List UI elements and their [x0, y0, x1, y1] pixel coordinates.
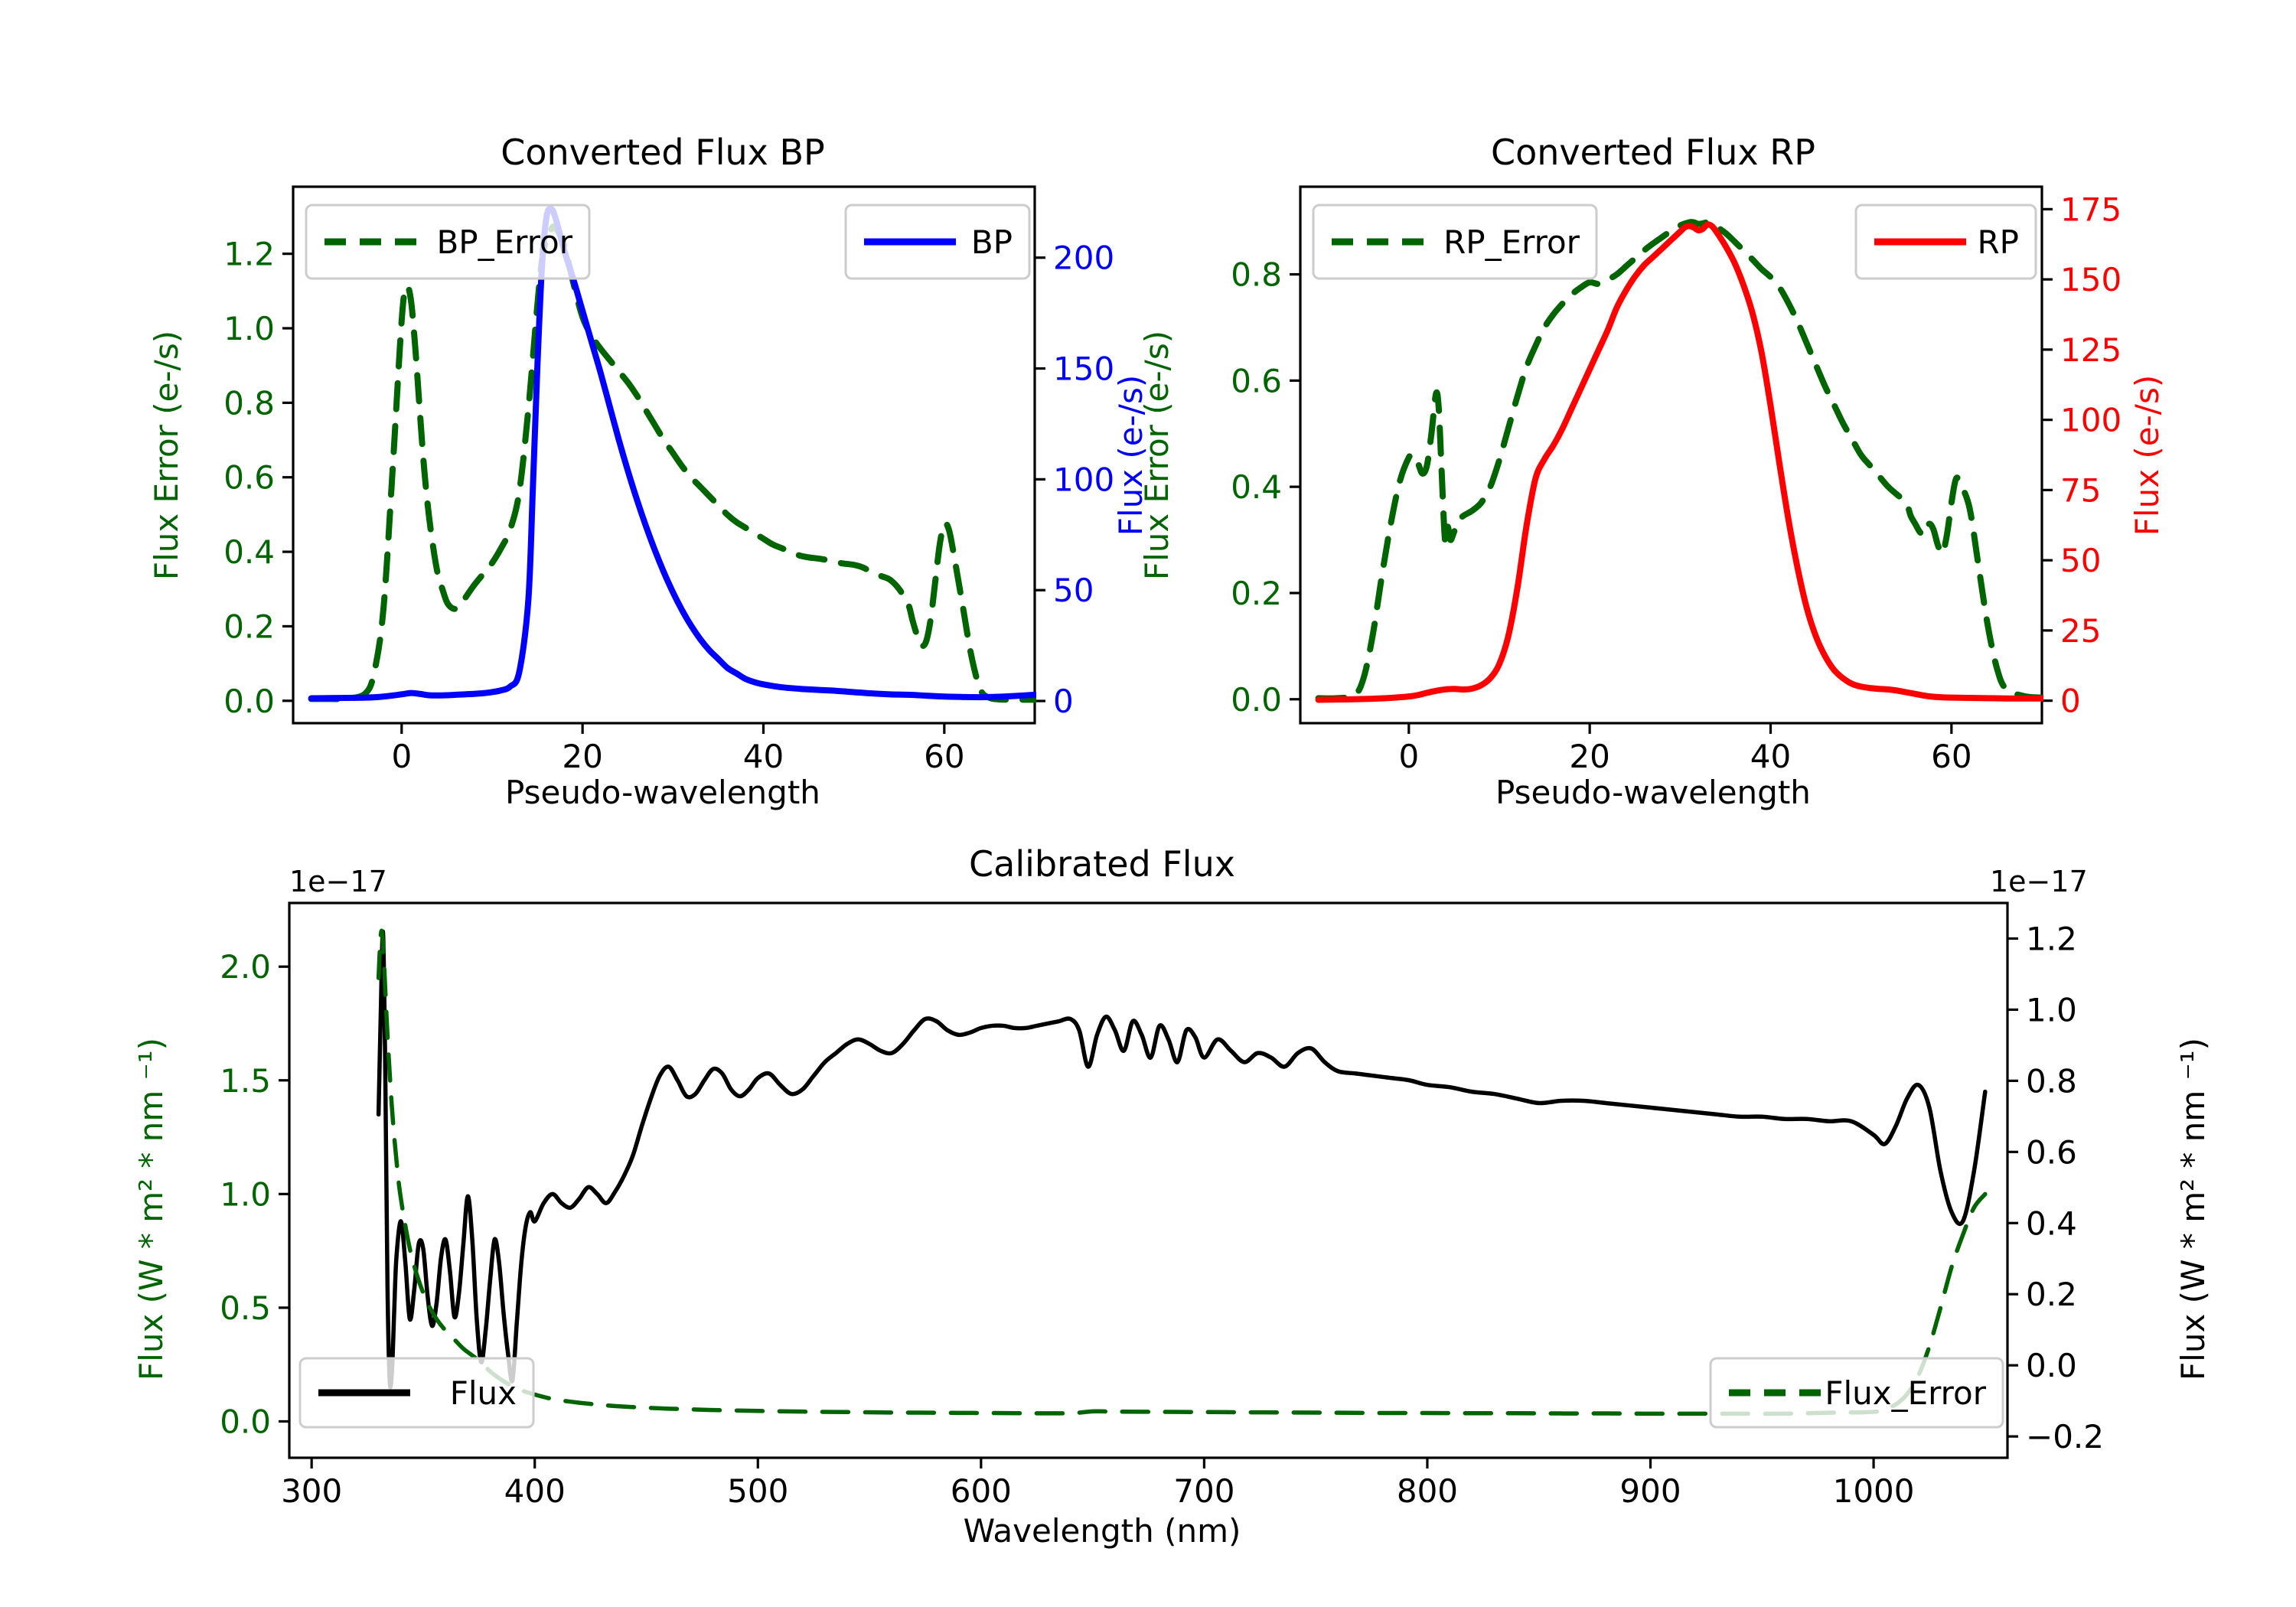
rp-y-axis-label-right: Flux (e-/s) — [2128, 375, 2166, 536]
bp-panel-title: Converted Flux BP — [501, 132, 825, 173]
calibrated-panel-y-tick-label-right: 0.4 — [2026, 1204, 2077, 1242]
panel-converted-flux-rp: Converted Flux RP 02040600.00.20.40.60.8… — [1148, 0, 2296, 819]
rp-x-axis-label: Pseudo-wavelength — [1495, 774, 1811, 811]
rp-panel-y-tick-label-left: 0.8 — [1231, 256, 1282, 294]
rp-y-axis-label-left: Flux Error (e-/s) — [1138, 331, 1176, 580]
rp-panel-x-tick-label: 40 — [1750, 738, 1791, 775]
calibrated-panel-y-tick-label-left: 0.0 — [220, 1403, 271, 1440]
cal-x-axis-label: Wavelength (nm) — [964, 1512, 1241, 1550]
rp-panel-y-tick-label-right: 150 — [2060, 261, 2122, 298]
calibrated-panel-x-tick-label: 700 — [1173, 1472, 1234, 1510]
calibrated-panel-y-tick-label-left: 1.5 — [220, 1062, 271, 1100]
rp-panel-y-tick-label-right: 100 — [2060, 402, 2122, 439]
rp-panel-y-tick-label-right: 0 — [2060, 683, 2081, 720]
bp-panel-y-tick-label-right: 150 — [1053, 350, 1114, 388]
panel-calibrated-flux: Calibrated Flux 1e−17 1e−17 300400500600… — [0, 819, 2296, 1607]
bp-panel-x-tick-label: 40 — [743, 738, 784, 775]
bp-panel-y-tick-label-right: 0 — [1053, 683, 1074, 720]
bp-legend-error-label: BP_Error — [436, 223, 572, 261]
calibrated-panel-y-tick-label-right: 0.8 — [2026, 1062, 2077, 1100]
rp-panel-y-tick-label-right: 25 — [2060, 612, 2101, 650]
calibrated-panel-x-tick-label: 500 — [727, 1472, 788, 1510]
rp-panel-x-tick-label: 0 — [1398, 738, 1419, 775]
cal-legend-flux-error-label: Flux_Error — [1825, 1374, 1986, 1412]
calibrated-panel-x-tick-label: 900 — [1619, 1472, 1681, 1510]
rp-panel-y-tick-label-left: 0.0 — [1231, 681, 1282, 719]
bp-panel-y-tick-label-left: 0.2 — [223, 608, 275, 645]
calibrated-panel-x-tick-label: 400 — [504, 1472, 566, 1510]
calibrated-panel-x-tick-label: 1000 — [1833, 1472, 1915, 1510]
rp-panel-y-tick-label-right: 175 — [2060, 191, 2122, 228]
panel-converted-flux-bp: Converted Flux BP 02040600.00.20.40.60.8… — [0, 0, 1148, 819]
calibrated-panel-series-flux_error — [379, 931, 1985, 1413]
bp-panel-y-tick-label-left: 0.6 — [223, 459, 275, 497]
bp-legend-flux-label: BP — [971, 223, 1013, 261]
cal-offset-left: 1e−17 — [289, 865, 387, 898]
bp-panel-x-tick-label: 0 — [391, 738, 412, 775]
bp-y-axis-label-left: Flux Error (e-/s) — [148, 331, 185, 580]
rp-panel-y-tick-label-left: 0.4 — [1231, 468, 1282, 506]
calibrated-panel-y-tick-label-right: 0.2 — [2026, 1276, 2077, 1313]
bp-panel-y-tick-label-right: 50 — [1053, 572, 1094, 609]
calibrated-panel-y-tick-label-left: 1.0 — [220, 1175, 271, 1213]
rp-legend-error[interactable]: RP_Error — [1313, 205, 1596, 279]
rp-panel-title: Converted Flux RP — [1491, 132, 1815, 173]
bp-x-axis-label: Pseudo-wavelength — [505, 774, 820, 811]
bp-panel-x-tick-label: 20 — [562, 738, 602, 775]
calibrated-panel-x-tick-label: 300 — [281, 1472, 342, 1510]
bp-panel-y-tick-label-left: 0.8 — [223, 384, 275, 422]
calibrated-panel-y-tick-label-right: 1.2 — [2026, 920, 2077, 957]
calibrated-panel-x-tick-label: 600 — [951, 1472, 1012, 1510]
bp-panel-y-tick-label-right: 200 — [1053, 240, 1114, 277]
calibrated-panel-y-tick-label-left: 2.0 — [220, 948, 271, 986]
rp-panel-y-tick-label-left: 0.2 — [1231, 575, 1282, 612]
calibrated-panel-series-flux — [379, 931, 1985, 1387]
rp-panel-x-tick-label: 20 — [1569, 738, 1609, 775]
calibrated-panel-y-tick-label-right: 1.0 — [2026, 991, 2077, 1028]
bp-panel-y-tick-label-left: 0.4 — [223, 533, 275, 571]
rp-legend-flux[interactable]: RP — [1856, 205, 2036, 279]
rp-legend-error-label: RP_Error — [1443, 223, 1580, 261]
rp-panel-y-tick-label-right: 125 — [2060, 331, 2122, 369]
cal-y-axis-label-right: Flux (W * m² * nm ⁻¹) — [2174, 1038, 2212, 1380]
bp-panel-y-tick-label-left: 1.2 — [223, 236, 275, 273]
rp-panel-y-tick-label-left: 0.6 — [1231, 362, 1282, 399]
bp-panel-y-tick-label-right: 100 — [1053, 461, 1114, 498]
rp-panel-series-rp_error — [1319, 222, 2042, 699]
bp-panel-y-tick-label-left: 0.0 — [223, 683, 275, 720]
bp-legend-flux[interactable]: BP — [846, 205, 1029, 279]
cal-legend-flux-error[interactable]: Flux_Error — [1711, 1358, 2003, 1427]
rp-panel-y-tick-label-right: 50 — [2060, 542, 2101, 579]
calibrated-panel-y-tick-label-right: 0.0 — [2026, 1347, 2077, 1384]
rp-panel-y-tick-label-right: 75 — [2060, 471, 2101, 509]
calibrated-panel-x-tick-label: 800 — [1397, 1472, 1458, 1510]
calibrated-panel-y-tick-label-left: 0.5 — [220, 1289, 271, 1327]
cal-y-axis-label-left: Flux (W * m² * nm ⁻¹) — [132, 1038, 170, 1380]
figure-canvas: Converted Flux BP 02040600.00.20.40.60.8… — [0, 0, 2296, 1607]
cal-legend-flux-label: Flux — [450, 1374, 517, 1412]
rp-panel-x-tick-label: 60 — [1931, 738, 1971, 775]
rp-legend-flux-label: RP — [1977, 223, 2019, 261]
cal-offset-right: 1e−17 — [1990, 865, 2088, 898]
bp-panel-series-bp_error — [311, 227, 1035, 699]
cal-legend-flux[interactable]: Flux — [300, 1358, 533, 1427]
bp-panel-x-tick-label: 60 — [924, 738, 964, 775]
calibrated-panel-y-tick-label-right: 0.6 — [2026, 1133, 2077, 1171]
bp-panel-y-tick-label-left: 1.0 — [223, 310, 275, 347]
bp-legend-error[interactable]: BP_Error — [306, 205, 589, 279]
calibrated-panel-y-tick-label-right: −0.2 — [2026, 1418, 2104, 1455]
cal-panel-title: Calibrated Flux — [969, 843, 1235, 885]
